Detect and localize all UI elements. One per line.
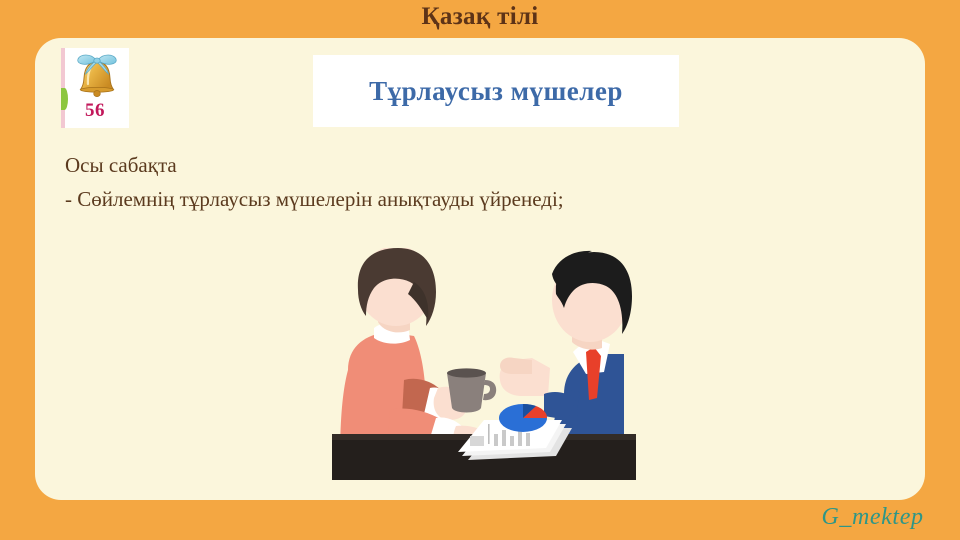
bell-thumbnail-number: 56 bbox=[61, 100, 129, 122]
bell-thumbnail: 56 bbox=[61, 48, 129, 128]
heading-banner: Тұрлаусыз мүшелер bbox=[313, 55, 679, 127]
bell-with-ribbon-icon bbox=[71, 51, 123, 103]
body-line-1: Осы сабақта bbox=[65, 148, 865, 182]
illustration-svg bbox=[318, 248, 648, 488]
paper-pie-chart bbox=[499, 404, 547, 432]
heading-banner-text: Тұрлаусыз мүшелер bbox=[369, 76, 623, 107]
body-line-2: - Сөйлемнің тұрлаусыз мүшелерін анықтауд… bbox=[65, 182, 865, 216]
watermark-logo: G_mektep bbox=[800, 504, 945, 531]
body-text-block: Осы сабақта - Сөйлемнің тұрлаусыз мүшеле… bbox=[65, 148, 865, 216]
page-title: Қазақ тілі bbox=[0, 2, 960, 32]
slide-root: Қазақ тілі bbox=[0, 0, 960, 540]
content-card: 56 Тұрлаусыз мүшелер Осы сабақта - Сөйле… bbox=[35, 38, 925, 500]
illustration-two-people-discussing bbox=[318, 248, 648, 488]
